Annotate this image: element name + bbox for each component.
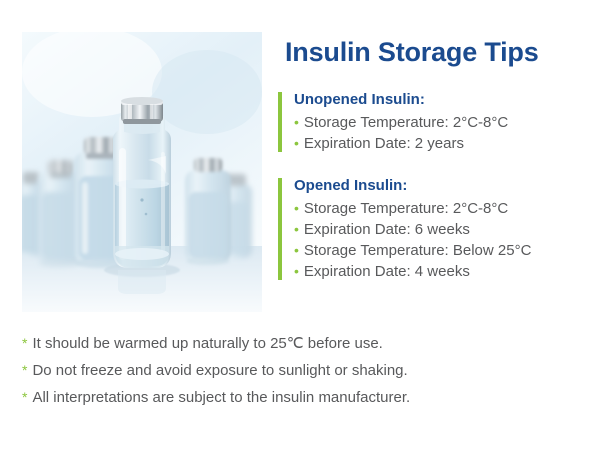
footnote-text: It should be warmed up naturally to 25℃ … (32, 331, 382, 357)
list-item-text: Expiration Date: 2 years (304, 133, 464, 154)
list-item: • Expiration Date: 4 weeks (294, 261, 588, 282)
bullet-list-unopened: • Storage Temperature: 2°C-8°C • Expirat… (294, 112, 588, 154)
bullet-dot-icon: • (294, 240, 299, 261)
list-item-text: Storage Temperature: Below 25°C (304, 240, 532, 261)
vial-right (185, 158, 231, 265)
list-item-text: Expiration Date: 6 weeks (304, 219, 470, 240)
section-opened-insulin: Opened Insulin: • Storage Temperature: 2… (278, 176, 588, 282)
bullet-list-opened: • Storage Temperature: 2°C-8°C • Expirat… (294, 198, 588, 282)
bullet-dot-icon: • (294, 133, 299, 154)
footnote-row: * It should be warmed up naturally to 25… (22, 330, 578, 357)
asterisk-icon: * (22, 384, 27, 410)
footnotes-container: * It should be warmed up naturally to 25… (22, 330, 578, 411)
section-unopened-insulin: Unopened Insulin: • Storage Temperature:… (278, 90, 588, 154)
footnote-row: * All interpretations are subject to the… (22, 384, 578, 411)
asterisk-icon: * (22, 357, 27, 383)
top-region: Insulin Storage Tips Unopened Insulin: •… (0, 0, 600, 318)
vials-illustration (22, 32, 262, 312)
section-heading-opened: Opened Insulin: (294, 176, 588, 196)
insulin-vials-photo (22, 32, 262, 312)
page-title: Insulin Storage Tips (285, 36, 588, 68)
bullet-dot-icon: • (294, 198, 299, 219)
sections-container: Unopened Insulin: • Storage Temperature:… (278, 90, 588, 282)
section-heading-unopened: Unopened Insulin: (294, 90, 588, 110)
footnote-text: Do not freeze and avoid exposure to sunl… (32, 358, 407, 384)
footnote-text: All interpretations are subject to the i… (32, 385, 410, 411)
list-item-text: Expiration Date: 4 weeks (304, 261, 470, 282)
bullet-dot-icon: • (294, 219, 299, 240)
list-item: • Expiration Date: 2 years (294, 133, 588, 154)
list-item-text: Storage Temperature: 2°C-8°C (304, 112, 508, 133)
list-item: • Storage Temperature: 2°C-8°C (294, 112, 588, 133)
asterisk-icon: * (22, 330, 27, 356)
list-item: • Storage Temperature: Below 25°C (294, 240, 588, 261)
bullet-dot-icon: • (294, 261, 299, 282)
list-item: • Expiration Date: 6 weeks (294, 219, 588, 240)
green-accent-bar (278, 92, 282, 152)
insulin-storage-infographic: Insulin Storage Tips Unopened Insulin: •… (0, 0, 600, 450)
green-accent-bar (278, 178, 282, 280)
list-item: • Storage Temperature: 2°C-8°C (294, 198, 588, 219)
footnote-row: * Do not freeze and avoid exposure to su… (22, 357, 578, 384)
text-column: Insulin Storage Tips Unopened Insulin: •… (278, 36, 588, 282)
bullet-dot-icon: • (294, 112, 299, 133)
list-item-text: Storage Temperature: 2°C-8°C (304, 198, 508, 219)
